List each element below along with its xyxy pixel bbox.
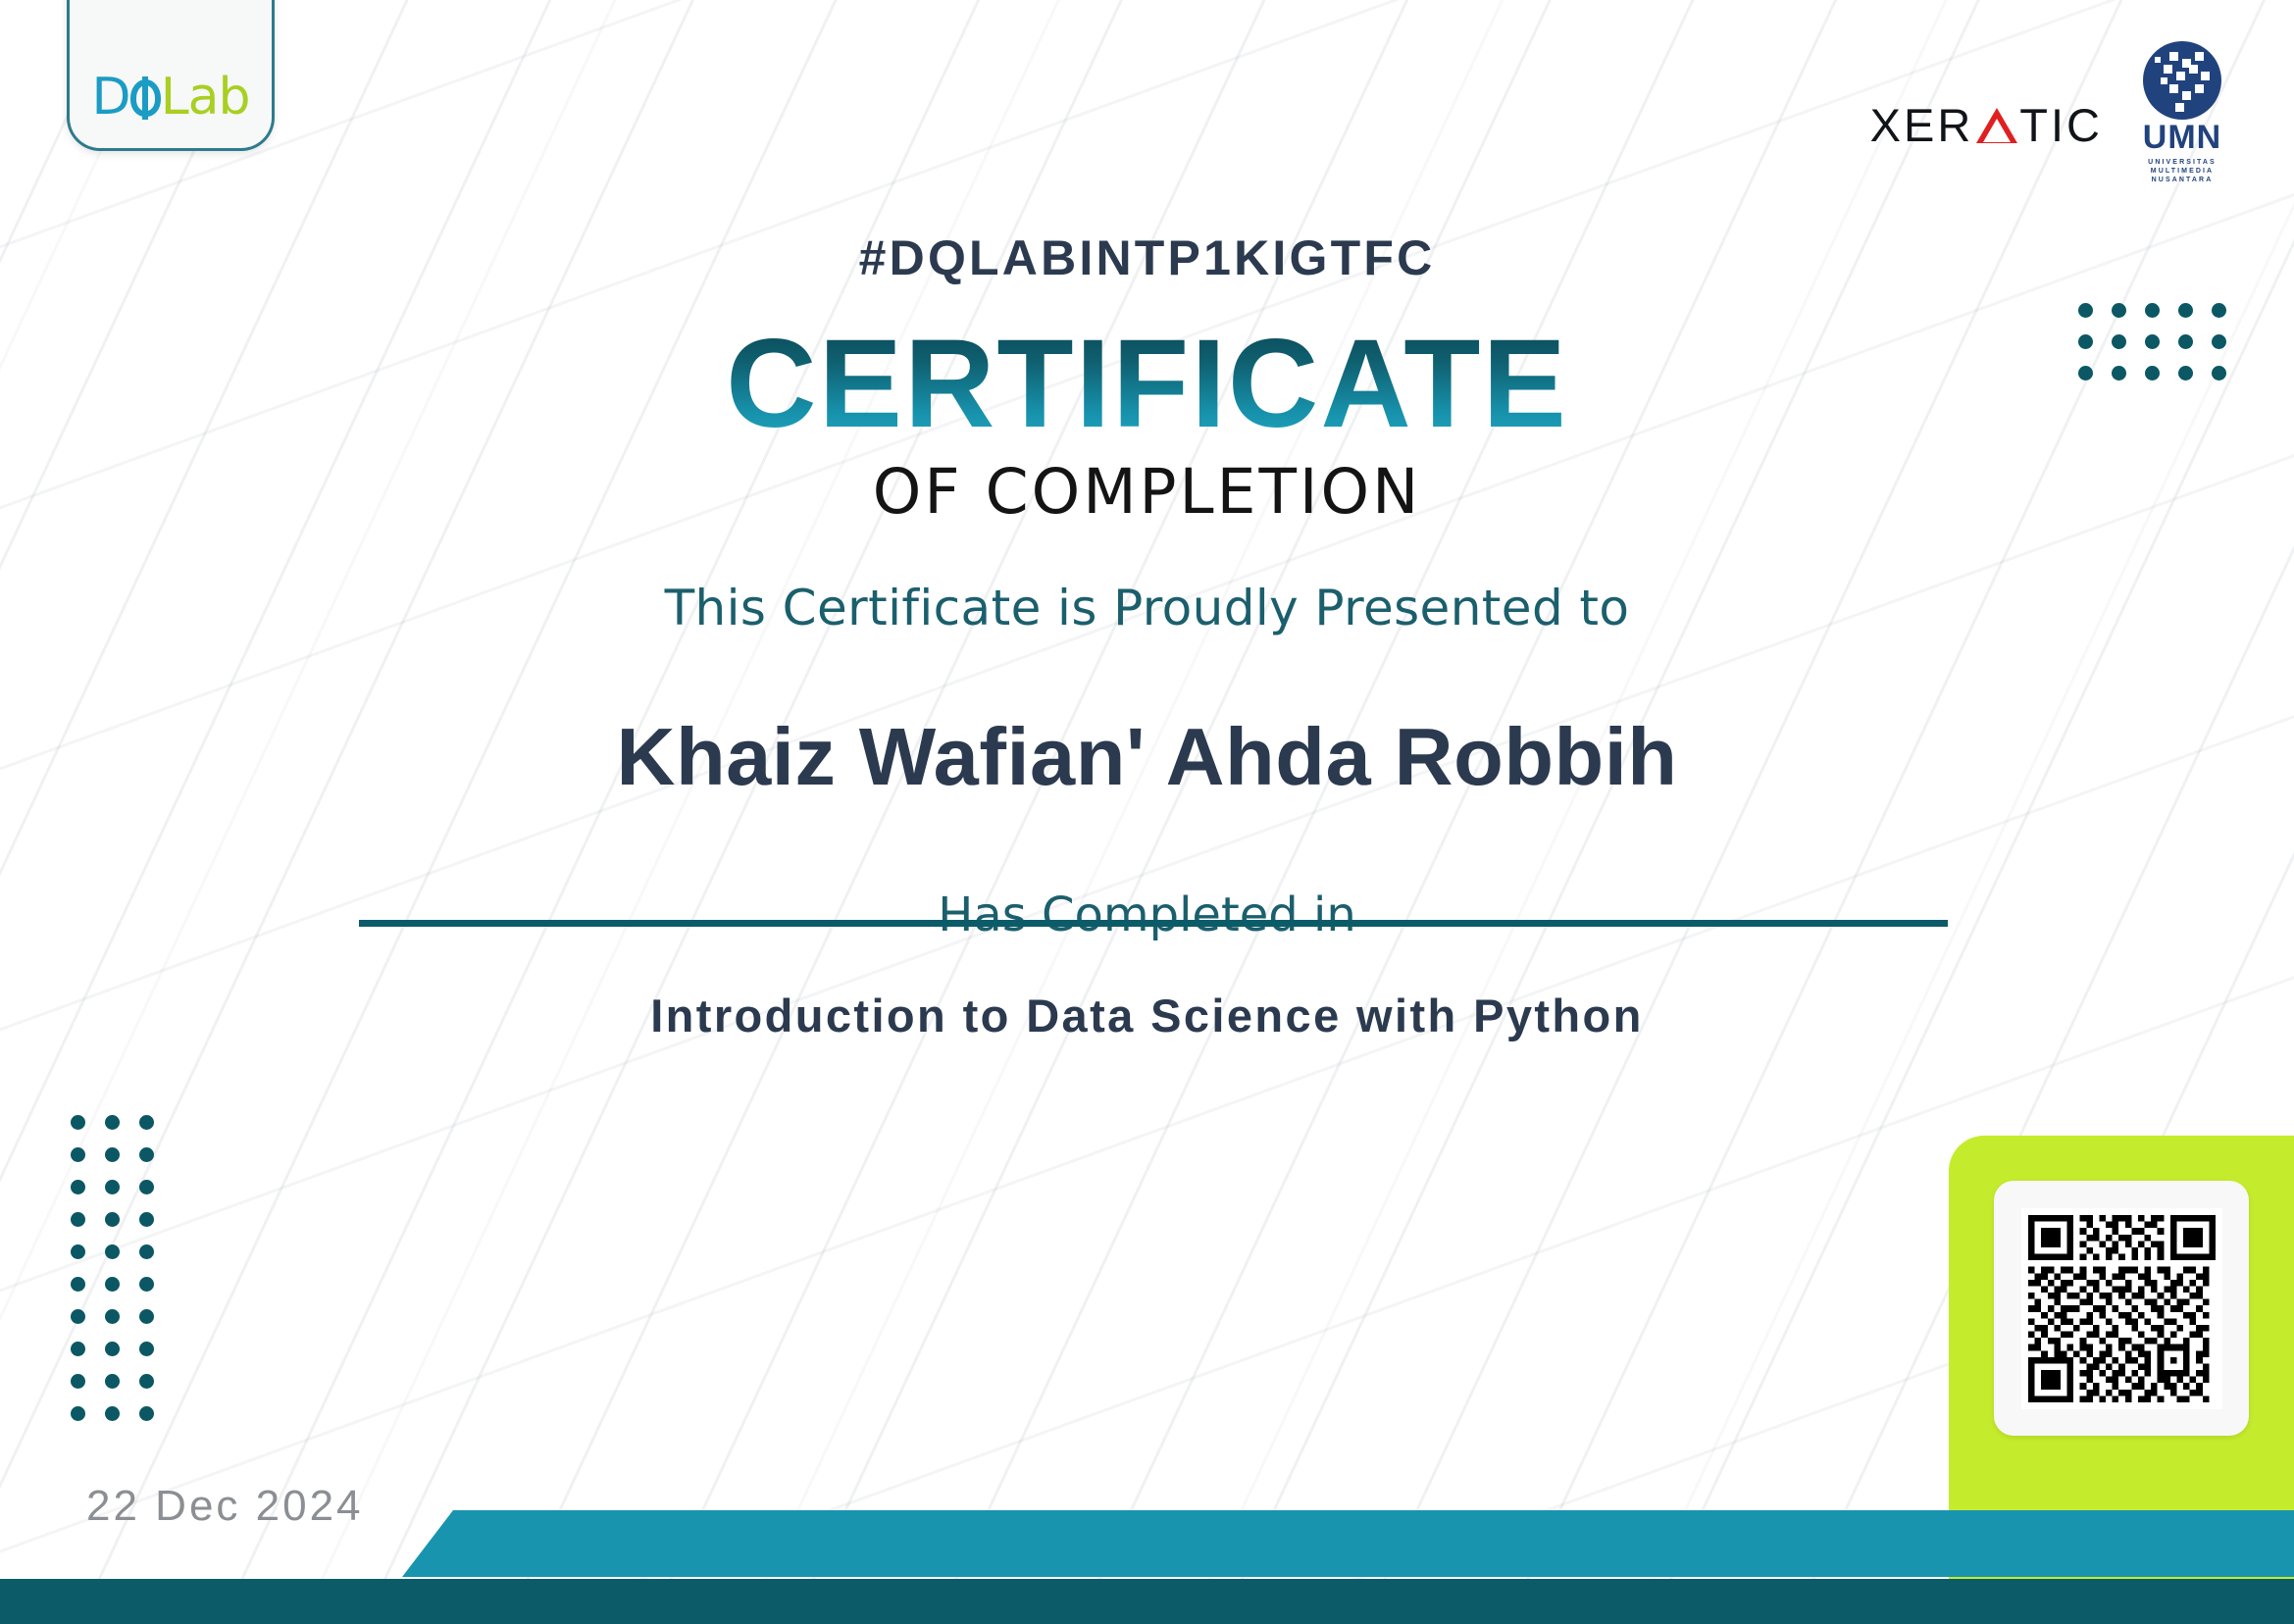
qr-card [1994,1181,2249,1436]
course-name: Introduction to Data Science with Python [0,992,2294,1039]
bottom-teal-ribbon [402,1510,2294,1577]
presented-to-label: This Certificate is Proudly Presented to [0,584,2294,633]
recipient-name: Khaiz Wafian' Ahda Robbih [0,716,2294,797]
has-completed-label: Has Completed in [0,891,2294,939]
qr-code[interactable] [2021,1208,2222,1409]
certificate-subtitle: OF COMPLETION [0,461,2294,523]
certificate-content: #DQLABINTP1KIGTFC CERTIFICATE OF COMPLET… [0,0,2294,1039]
page-title: CERTIFICATE [0,322,2294,447]
issue-date: 22 Dec 2024 [86,1485,364,1528]
dot-grid-left [61,1106,164,1430]
certificate-page: DLab XERTIC UMN [0,0,2294,1624]
recipient-name-underline [359,920,1948,927]
certificate-hashtag: #DQLABINTP1KIGTFC [0,233,2294,282]
bottom-dark-bar [0,1579,2294,1624]
